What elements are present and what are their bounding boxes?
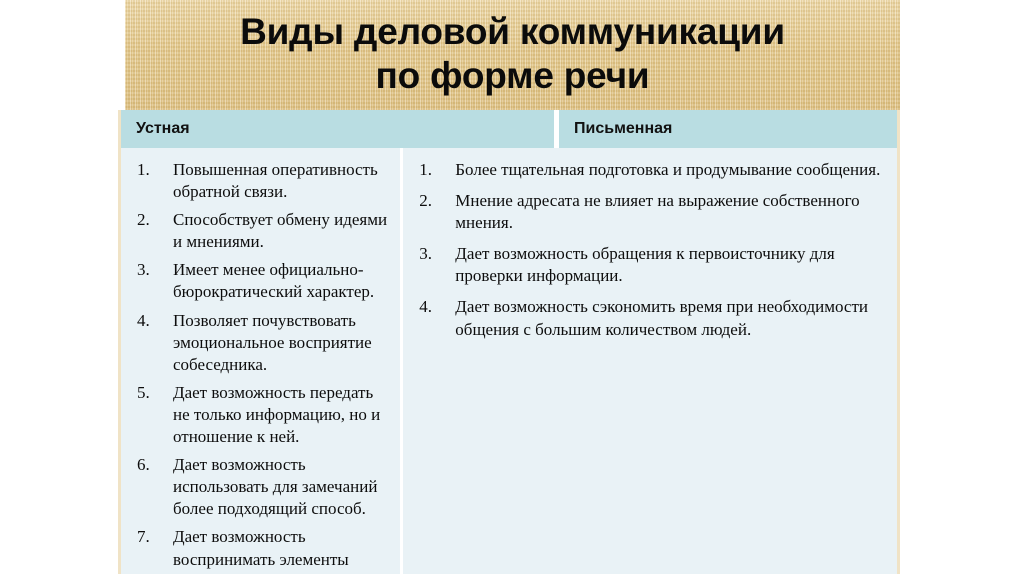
page-title: Виды деловой коммуникации по форме речи [240,10,785,99]
list-item: 6. Дает возможность использовать для зам… [133,454,388,520]
title-banner: Виды деловой коммуникации по форме речи [125,0,900,110]
list-item: 3. Имеет менее официально-бюрократически… [133,259,388,303]
list-item-number: 4. [415,296,455,318]
list-item: 3. Дает возможность обращения к первоист… [415,243,885,287]
list-item: 4. Дает возможность сэкономить время при… [415,296,885,340]
list-item-number: 2. [415,190,455,212]
list-item-number: 3. [415,243,455,265]
list-item-text: Дает возможность обращения к первоисточн… [455,243,885,287]
list-item: 4. Позволяет почувствовать эмоциональное… [133,310,388,376]
comparison-table: Устная Письменная 1. Повышенная оператив… [118,110,900,574]
list-item: 2. Мнение адресата не влияет на выражени… [415,190,885,234]
oral-list: 1. Повышенная оперативность обратной свя… [133,159,388,574]
list-item-text: Дает возможность сэкономить время при не… [455,296,885,340]
list-item-text: Мнение адресата не влияет на выражение с… [455,190,885,234]
list-item: 7. Дает возможность воспринимать элемент… [133,526,388,574]
list-item: 5. Дает возможность передать не только и… [133,382,388,448]
list-item: 2. Способствует обмену идеями и мнениями… [133,209,388,253]
column-header-oral: Устная [121,110,554,148]
list-item-text: Дает возможность использовать для замеча… [173,454,388,520]
list-item-number: 3. [133,259,173,281]
list-item-number: 1. [133,159,173,181]
table-body-row: 1. Повышенная оперативность обратной свя… [121,148,897,574]
column-cell-written: 1. Более тщательная подготовка и продумы… [403,148,897,574]
list-item-text: Дает возможность передать не только инфо… [173,382,388,448]
list-item-text: Более тщательная подготовка и продумыван… [455,159,885,181]
list-item: 1. Более тщательная подготовка и продумы… [415,159,885,181]
list-item-text: Позволяет почувствовать эмоциональное во… [173,310,388,376]
list-item-text: Повышенная оперативность обратной связи. [173,159,388,203]
list-item: 1. Повышенная оперативность обратной свя… [133,159,388,203]
list-item-text: Дает возможность воспринимать элементы н… [173,526,388,574]
column-cell-oral: 1. Повышенная оперативность обратной свя… [121,148,400,574]
list-item-number: 6. [133,454,173,476]
list-item-number: 1. [415,159,455,181]
table-header-row: Устная Письменная [121,110,897,148]
column-header-oral-label: Устная [136,120,190,138]
column-header-written: Письменная [559,110,897,148]
list-item-number: 7. [133,526,173,548]
list-item-number: 4. [133,310,173,332]
written-list: 1. Более тщательная подготовка и продумы… [415,159,885,341]
list-item-text: Способствует обмену идеями и мнениями. [173,209,388,253]
list-item-number: 5. [133,382,173,404]
list-item-number: 2. [133,209,173,231]
column-header-written-label: Письменная [574,120,672,138]
list-item-text: Имеет менее официально-бюрократический х… [173,259,388,303]
